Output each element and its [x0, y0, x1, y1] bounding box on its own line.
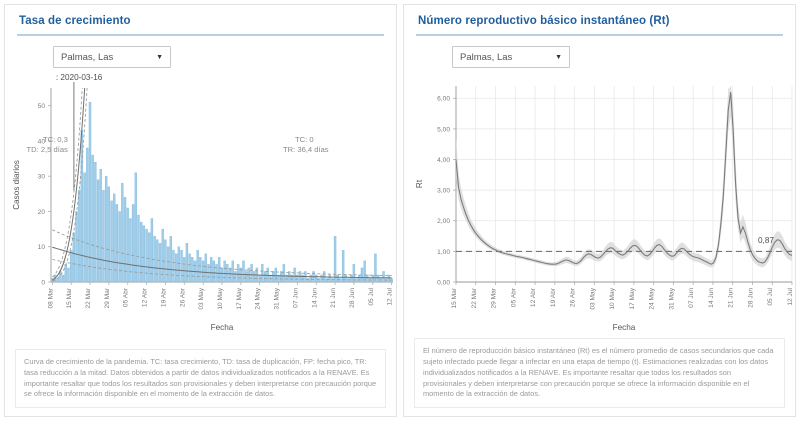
- bar: [242, 261, 244, 282]
- bar: [356, 278, 358, 282]
- bar: [221, 268, 223, 282]
- x-tick-label: 19 Abr: [550, 287, 557, 307]
- province-select-left[interactable]: Palmas, Las ▼: [53, 46, 171, 68]
- bar: [372, 275, 374, 282]
- bar: [121, 183, 123, 282]
- x-tick-label: 10 May: [609, 287, 616, 309]
- x-tick-label: 31 May: [668, 287, 675, 309]
- bar: [154, 236, 156, 282]
- bar: [89, 102, 91, 282]
- bar: [78, 190, 80, 282]
- bar: [237, 264, 239, 282]
- x-tick-label: 05 Jul: [767, 287, 774, 305]
- x-tick-label: 29 Mar: [491, 287, 498, 308]
- bar: [326, 278, 328, 282]
- x-tick-label: 26 Abr: [570, 287, 577, 307]
- y-tick-label: 6,00: [437, 96, 450, 103]
- bar: [59, 271, 61, 282]
- bar: [251, 264, 253, 282]
- svg-text:50: 50: [38, 103, 46, 110]
- bar: [86, 148, 88, 282]
- bar: [119, 211, 121, 282]
- bar: [315, 275, 317, 282]
- y-tick-label: 5,00: [437, 126, 450, 133]
- x-tick-label: 26 Abr: [179, 287, 186, 307]
- x-tick-label: 10 May: [217, 287, 224, 309]
- bar: [388, 275, 390, 282]
- x-tick-label: 03 May: [198, 287, 205, 309]
- bar: [181, 250, 183, 282]
- y-tick-label: 4,00: [437, 157, 450, 164]
- bar: [172, 250, 174, 282]
- bar: [218, 257, 220, 282]
- rt-chart-area: 0,001,002,003,004,005,006,0015 Mar22 Mar…: [404, 70, 795, 338]
- bar: [94, 162, 96, 282]
- svg-text:10: 10: [38, 244, 46, 251]
- bar: [318, 278, 320, 282]
- bar: [358, 275, 360, 282]
- bar: [347, 278, 349, 282]
- bar: [164, 240, 166, 282]
- y-tick-label: 2,00: [437, 218, 450, 225]
- bar: [189, 254, 191, 282]
- bar: [334, 236, 336, 282]
- bar: [102, 190, 104, 282]
- bar: [167, 247, 169, 282]
- x-tick-label: 14 Jun: [708, 288, 715, 308]
- x-tick-label: 12 Jul: [787, 287, 794, 305]
- y-axis-title: Casos diarios: [12, 160, 21, 210]
- bar: [156, 240, 158, 282]
- bar: [127, 208, 129, 282]
- bar: [159, 243, 161, 282]
- bar: [345, 275, 347, 282]
- bar: [364, 261, 366, 282]
- bar: [205, 254, 207, 282]
- bar: [202, 261, 204, 282]
- bar: [245, 271, 247, 282]
- bar: [75, 211, 77, 282]
- bar: [151, 219, 153, 282]
- rt-current-value-label: 0,87: [758, 236, 774, 245]
- bar: [62, 275, 64, 282]
- x-axis-title: Fecha: [613, 323, 636, 332]
- x-tick-label: 22 Mar: [85, 287, 92, 308]
- x-tick-label: 19 Abr: [160, 287, 167, 307]
- bar: [275, 268, 277, 282]
- tc-right-annotation: TC: 0: [295, 135, 314, 144]
- x-tick-label: 21 Jun: [330, 288, 337, 308]
- bar: [253, 271, 255, 282]
- bar: [283, 264, 285, 282]
- bar: [272, 271, 274, 282]
- bar: [321, 275, 323, 282]
- chevron-down-icon: ▼: [555, 54, 562, 61]
- bar: [339, 278, 341, 282]
- y-tick-label: 3,00: [437, 188, 450, 195]
- svg-text:30: 30: [38, 174, 46, 181]
- chevron-down-icon: ▼: [156, 54, 163, 61]
- x-tick-label: 03 May: [589, 287, 596, 309]
- bar: [137, 215, 139, 282]
- bar: [210, 257, 212, 282]
- bar: [377, 275, 379, 282]
- bar: [229, 268, 231, 282]
- bar: [67, 268, 69, 282]
- x-tick-label: 05 Jul: [368, 287, 375, 305]
- x-tick-label: 07 Jun: [688, 288, 695, 308]
- rt-confidence-band: [456, 86, 792, 268]
- bar: [353, 264, 355, 282]
- panel-growth-rate: Tasa de crecimiento Palmas, Las ▼ 010203…: [4, 4, 397, 417]
- x-tick-label: 24 May: [255, 287, 262, 309]
- bar: [224, 261, 226, 282]
- bar: [350, 275, 352, 282]
- bar: [70, 250, 72, 282]
- bar: [183, 257, 185, 282]
- bar: [148, 233, 150, 282]
- bar: [199, 257, 201, 282]
- bar: [288, 271, 290, 282]
- td-left-annotation: TD: 2,5 días: [27, 145, 69, 154]
- x-tick-label: 05 Abr: [510, 287, 517, 307]
- x-tick-label: 17 May: [629, 287, 636, 309]
- bar-series: [51, 102, 392, 282]
- bar: [92, 155, 94, 282]
- bar: [124, 197, 126, 282]
- bar: [175, 254, 177, 282]
- bar: [178, 247, 180, 282]
- province-select-left-value: Palmas, Las: [61, 52, 113, 63]
- x-tick-label: 12 Jul: [387, 287, 394, 305]
- rt-chart-svg: 0,001,002,003,004,005,006,0015 Mar22 Mar…: [404, 70, 800, 335]
- province-select-right-value: Palmas, Las: [460, 52, 512, 63]
- x-tick-label: 14 Jun: [311, 288, 318, 308]
- page-title-right: Número reproductivo básico instantáneo (…: [404, 5, 795, 34]
- bar: [261, 264, 263, 282]
- bar: [294, 268, 296, 282]
- bar: [264, 271, 266, 282]
- dashboard-root: Tasa de crecimiento Palmas, Las ▼ 010203…: [0, 0, 800, 421]
- bar: [329, 275, 331, 282]
- selector-row-right: Palmas, Las ▼: [404, 36, 795, 70]
- bar: [337, 275, 339, 282]
- growth-chart-area: 01020304050: 2020-03-16TC: 0,3TD: 2,5 dí…: [5, 70, 396, 349]
- panel-rt: Número reproductivo básico instantáneo (…: [403, 4, 796, 417]
- bar: [213, 261, 215, 282]
- bar: [143, 226, 145, 282]
- bar: [73, 233, 75, 282]
- province-select-right[interactable]: Palmas, Las ▼: [452, 46, 570, 68]
- tr-right-annotation: TR: 36,4 días: [283, 145, 329, 154]
- x-tick-label: 07 Jun: [292, 288, 299, 308]
- x-tick-label: 08 Mar: [47, 287, 54, 308]
- bar: [105, 176, 107, 282]
- bar: [366, 275, 368, 282]
- peak-date-annotation: : 2020-03-16: [56, 73, 103, 82]
- x-tick-label: 24 May: [649, 287, 656, 309]
- x-tick-label: 17 May: [236, 287, 243, 309]
- bar: [132, 204, 134, 282]
- bar: [234, 271, 236, 282]
- bar: [108, 187, 110, 282]
- bar: [129, 219, 131, 282]
- y-tick-label: 1,00: [437, 249, 450, 256]
- x-tick-label: 21 Jun: [728, 288, 735, 308]
- bar: [146, 229, 148, 282]
- y-tick-label: 0,00: [437, 279, 450, 286]
- y-axis-title: Rt: [415, 179, 424, 188]
- bar: [113, 194, 115, 282]
- page-title-left: Tasa de crecimiento: [5, 5, 396, 34]
- bar: [232, 261, 234, 282]
- bar: [57, 278, 59, 282]
- bar: [310, 275, 312, 282]
- x-tick-label: 28 Jun: [349, 288, 356, 308]
- svg-text:0: 0: [41, 279, 45, 286]
- x-tick-label: 28 Jun: [748, 288, 755, 308]
- x-tick-label: 22 Mar: [471, 287, 478, 308]
- x-tick-label: 12 Abr: [142, 287, 149, 307]
- tc-left-annotation: TC: 0,3: [43, 135, 68, 144]
- bar: [97, 180, 99, 282]
- footnote-right: El número de reproducción básico instant…: [414, 338, 785, 408]
- bar: [280, 271, 282, 282]
- x-tick-label: 12 Abr: [530, 287, 537, 307]
- x-tick-label: 15 Mar: [66, 287, 73, 308]
- bar: [100, 169, 102, 282]
- x-tick-label: 31 May: [274, 287, 281, 309]
- footnote-left: Curva de crecimiento de la pandemia. TC:…: [15, 349, 386, 408]
- x-tick-label: 29 Mar: [104, 287, 111, 308]
- bar: [191, 257, 193, 282]
- bar: [65, 264, 67, 282]
- selector-row-left: Palmas, Las ▼: [5, 36, 396, 70]
- bar: [331, 278, 333, 282]
- x-tick-label: 05 Abr: [123, 287, 130, 307]
- svg-text:20: 20: [38, 209, 46, 216]
- x-axis-title: Fecha: [211, 323, 234, 332]
- growth-chart-svg: 01020304050: 2020-03-16TC: 0,3TD: 2,5 dí…: [5, 70, 401, 335]
- x-tick-label: 15 Mar: [451, 287, 458, 308]
